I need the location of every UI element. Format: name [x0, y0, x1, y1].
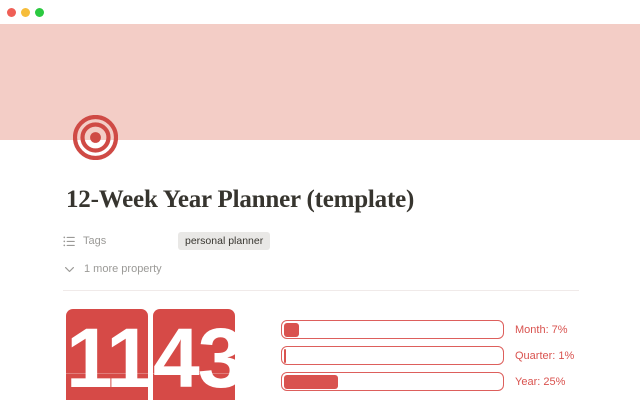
progress-label-year: Year: 25% [515, 376, 565, 388]
progress-row-quarter: Quarter: 1% [281, 346, 581, 365]
tag-chip[interactable]: personal planner [178, 232, 270, 250]
property-label-tags: Tags [83, 235, 106, 247]
traffic-light-group [7, 8, 44, 17]
property-row-tags[interactable]: Tags personal planner [63, 231, 583, 251]
more-properties-label: 1 more property [84, 263, 162, 275]
progress-label-month: Month: 7% [515, 324, 568, 336]
property-value-tags[interactable]: personal planner [178, 232, 270, 250]
countdown-card: 11 [66, 309, 148, 400]
list-icon [63, 235, 76, 248]
progress-fill-month [284, 323, 299, 337]
content-divider [63, 290, 579, 291]
bullseye-target-icon[interactable] [73, 115, 118, 160]
flip-card-seam [153, 373, 235, 374]
progress-fill-year [284, 375, 339, 389]
maximize-button-icon[interactable] [35, 8, 44, 17]
page-properties: Tags personal planner 1 more property [63, 231, 583, 279]
countdown-value: 11 [66, 316, 148, 400]
progress-fill-quarter [284, 349, 286, 363]
window-titlebar [0, 0, 640, 24]
progress-track-quarter[interactable] [281, 346, 504, 365]
more-properties-toggle[interactable]: 1 more property [63, 259, 583, 279]
countdown-value: 43 [153, 316, 235, 400]
progress-row-month: Month: 7% [281, 320, 581, 339]
progress-row-year: Year: 25% [281, 372, 581, 391]
minimize-button-icon[interactable] [21, 8, 30, 17]
close-button-icon[interactable] [7, 8, 16, 17]
chevron-down-icon [63, 263, 76, 276]
countdown-clock: 11 43 [66, 309, 235, 400]
progress-label-quarter: Quarter: 1% [515, 350, 574, 362]
progress-track-month[interactable] [281, 320, 504, 339]
progress-track-year[interactable] [281, 372, 504, 391]
app-window: 12-Week Year Planner (template) [0, 0, 640, 400]
progress-bar-list: Month: 7% Quarter: 1% Year: 25% [281, 320, 581, 398]
property-key-tags[interactable]: Tags [63, 235, 178, 248]
countdown-card: 43 [153, 309, 235, 400]
page-title[interactable]: 12-Week Year Planner (template) [66, 186, 586, 214]
flip-card-seam [66, 373, 148, 374]
